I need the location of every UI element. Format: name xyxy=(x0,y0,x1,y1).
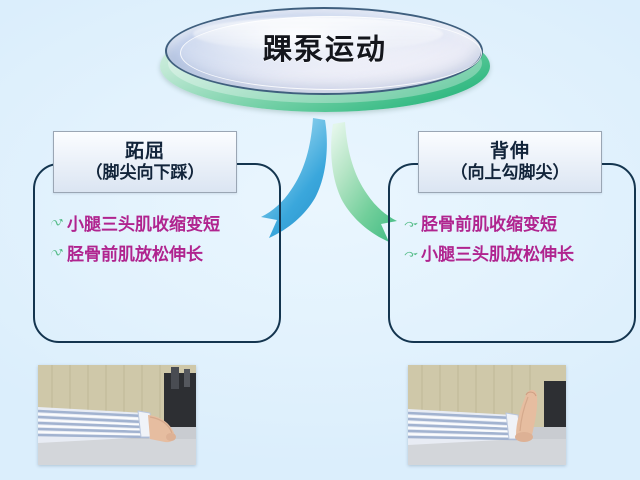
panel-dorsiflexion-header: 背伸 （向上勾脚尖） xyxy=(418,131,602,193)
list-item: 胫骨前肌收缩变短 xyxy=(404,212,620,240)
list-item: 胫骨前肌放松伸长 xyxy=(50,242,266,270)
leaf-sprout-icon xyxy=(404,247,418,261)
panel-plantarflexion-header: 跖屈 （脚尖向下踩） xyxy=(53,131,237,193)
photo-plantarflexion xyxy=(38,365,196,465)
panel-plantarflexion-subtitle: （脚尖向下踩） xyxy=(86,164,205,183)
panel-dorsiflexion-body: 胫骨前肌收缩变短 小腿三头肌放松伸长 xyxy=(404,212,620,271)
list-item: 小腿三头肌收缩变短 xyxy=(50,212,266,240)
leaf-sprout-icon xyxy=(404,217,418,231)
panel-plantarflexion-title: 跖屈 xyxy=(125,141,165,162)
slide-canvas: 踝泵运动 跖屈 （脚尖向下踩） xyxy=(0,0,640,480)
photo-dorsiflexion xyxy=(408,365,566,465)
list-item-label: 小腿三头肌收缩变短 xyxy=(67,215,220,235)
title-banner: 踝泵运动 xyxy=(160,4,490,112)
list-item-label: 胫骨前肌收缩变短 xyxy=(421,215,557,235)
panel-plantarflexion-body: 小腿三头肌收缩变短 胫骨前肌放松伸长 xyxy=(50,212,266,271)
list-item-label: 小腿三头肌放松伸长 xyxy=(421,245,574,265)
leaf-sprout-icon xyxy=(50,247,64,261)
list-item-label: 胫骨前肌放松伸长 xyxy=(67,245,203,265)
leaf-sprout-icon xyxy=(50,217,64,231)
panel-dorsiflexion-subtitle: （向上勾脚尖） xyxy=(451,164,570,183)
list-item: 小腿三头肌放松伸长 xyxy=(404,242,620,270)
panel-dorsiflexion-title: 背伸 xyxy=(490,141,530,162)
page-title: 踝泵运动 xyxy=(160,26,490,68)
